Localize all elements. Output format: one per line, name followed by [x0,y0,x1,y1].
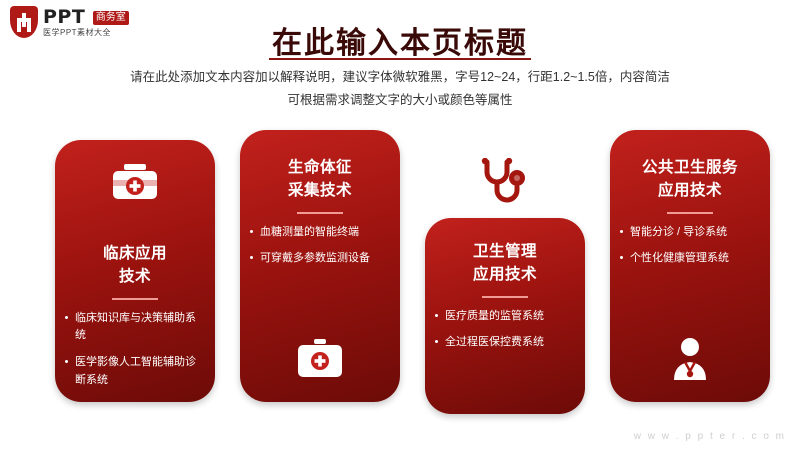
footer-watermark: w w w . p p t e r . c o m [634,431,786,442]
list-item: 全过程医保控费系统 [445,334,569,352]
list-item: 可穿戴多参数监测设备 [260,250,384,268]
card-health-management-list: 医疗质量的监管系统 全过程医保控费系统 [425,308,585,362]
card-public-health-title-line2: 应用技术 [658,182,722,199]
list-item: 智能分诊 / 导诊系统 [630,224,754,242]
card-divider [482,296,528,298]
list-item: 医疗质量的监管系统 [445,308,569,326]
card-health-management-title-line1: 卫生管理 [473,243,537,260]
list-item: 血糖测量的智能终端 [260,224,384,242]
card-vital-signs-list: 血糖测量的智能终端 可穿戴多参数监测设备 [240,224,400,278]
card-public-health-list: 智能分诊 / 导诊系统 个性化健康管理系统 [610,224,770,278]
card-health-management[interactable]: 卫生管理 应用技术 医疗质量的监管系统 全过程医保控费系统 [425,218,585,414]
page-title: 在此输入本页标题 [0,18,800,62]
card-clinical[interactable]: 临床应用 技术 临床知识库与决策辅助系统 医学影像人工智能辅助诊断系统 [55,140,215,402]
card-clinical-title-line1: 临床应用 [103,245,167,262]
card-divider [667,212,713,214]
stethoscope-icon [476,158,528,215]
card-divider [112,298,158,300]
medical-kit-icon [110,140,160,204]
first-aid-bag-icon [297,336,343,402]
subtitle-line-2: 可根据需求调整文字的大小或颜色等属性 [0,89,800,112]
card-health-management-title: 卫生管理 应用技术 [473,240,537,287]
doctor-icon [667,336,713,402]
card-health-management-title-line2: 应用技术 [473,266,537,283]
card-vital-signs[interactable]: 生命体征 采集技术 血糖测量的智能终端 可穿戴多参数监测设备 [240,130,400,402]
card-public-health-title: 公共卫生服务 应用技术 [642,156,738,203]
card-public-health-title-line1: 公共卫生服务 [642,159,738,176]
list-item: 医学影像人工智能辅助诊断系统 [75,354,199,390]
card-vital-signs-title-line2: 采集技术 [288,182,352,199]
card-vital-signs-title-line1: 生命体征 [288,159,352,176]
card-clinical-list: 临床知识库与决策辅助系统 医学影像人工智能辅助诊断系统 [55,310,215,399]
page-subtitle: 请在此处添加文本内容加以解释说明，建议字体微软雅黑，字号12~24，行距1.2~… [0,66,800,112]
list-item: 临床知识库与决策辅助系统 [75,310,199,346]
card-vital-signs-title: 生命体征 采集技术 [288,156,352,203]
card-clinical-title: 临床应用 技术 [103,242,167,289]
list-item: 个性化健康管理系统 [630,250,754,268]
title-underline [269,58,531,60]
card-clinical-title-line2: 技术 [119,268,151,285]
card-divider [297,212,343,214]
card-public-health[interactable]: 公共卫生服务 应用技术 智能分诊 / 导诊系统 个性化健康管理系统 [610,130,770,402]
subtitle-line-1: 请在此处添加文本内容加以解释说明，建议字体微软雅黑，字号12~24，行距1.2~… [0,66,800,89]
